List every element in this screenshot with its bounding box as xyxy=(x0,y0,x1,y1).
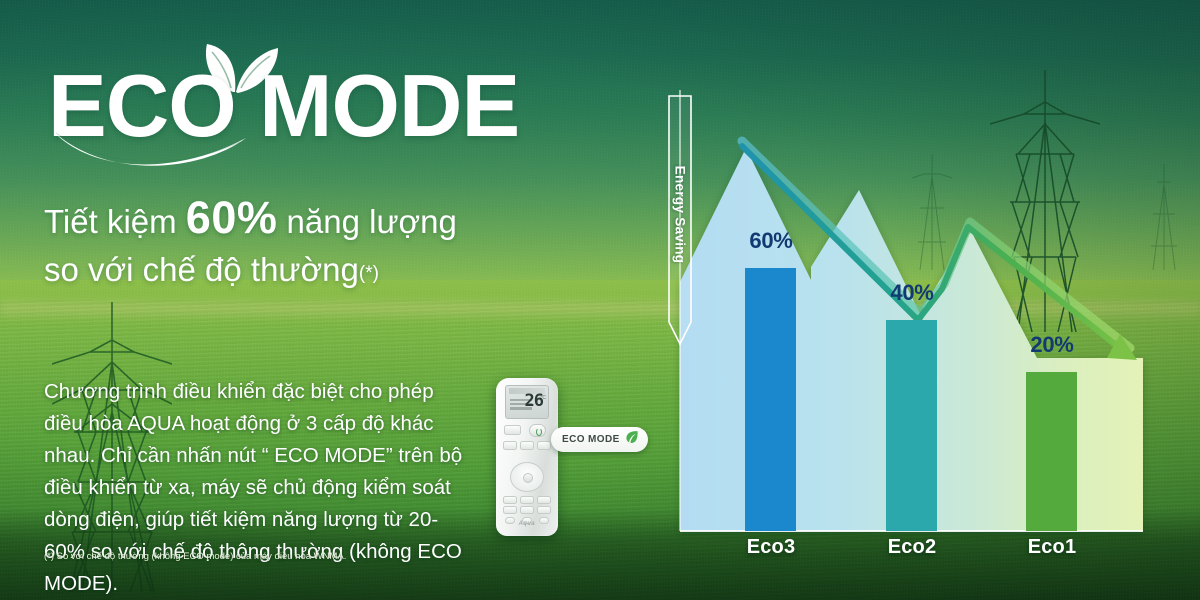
eco-mode-callout[interactable]: ECO MODE xyxy=(551,427,648,452)
remote-dpad-center[interactable] xyxy=(523,473,533,483)
remote-button[interactable] xyxy=(503,506,517,514)
subtitle-line-2: so với chế độ thường(*) xyxy=(44,248,604,292)
leaf-icon xyxy=(625,430,639,449)
subtitle-prefix: Tiết kiệm xyxy=(44,203,186,240)
remote-mode-button[interactable] xyxy=(504,425,521,435)
body-paragraph: Chương trình điều khiển đặc biệt cho phé… xyxy=(44,376,474,600)
subtitle-block: Tiết kiệm 60% năng lượng so với chế độ t… xyxy=(44,188,604,292)
remote-lcd-screen: 26 °C xyxy=(505,385,549,419)
remote-power-button[interactable] xyxy=(529,424,546,437)
category-label-eco1: Eco1 xyxy=(1008,536,1096,559)
remote-dpad[interactable] xyxy=(510,462,544,492)
eco-mode-logo: ECO MODE xyxy=(42,44,562,172)
subtitle-highlight: 60% xyxy=(186,192,278,243)
bar-eco3 xyxy=(745,268,796,531)
remote-brand-label: Aqua xyxy=(496,521,558,527)
bar-value-eco3: 60% xyxy=(728,228,814,254)
remote-button[interactable] xyxy=(537,496,551,504)
subtitle-suffix: năng lượng xyxy=(277,203,457,240)
bar-eco2 xyxy=(886,320,937,531)
subtitle-line-1: Tiết kiệm 60% năng lượng xyxy=(44,188,604,248)
lcd-temperature-unit: °C xyxy=(540,395,546,401)
remote-button[interactable] xyxy=(537,506,551,514)
remote-control[interactable]: 26 °C Aqua xyxy=(496,378,558,536)
category-label-eco3: Eco3 xyxy=(727,536,815,559)
y-axis-label: Energy Saving xyxy=(673,105,688,325)
chart-graphics xyxy=(650,86,1200,600)
subtitle-asterisk: (*) xyxy=(359,263,379,284)
eco-mode-callout-label: ECO MODE xyxy=(562,434,620,445)
bar-eco1 xyxy=(1026,372,1077,531)
remote-button[interactable] xyxy=(520,506,534,514)
remote-button[interactable] xyxy=(503,441,517,450)
remote-eco-mode-button[interactable] xyxy=(537,441,551,450)
footnote: (*) So với chế độ thường (không ECO mode… xyxy=(44,551,504,563)
energy-saving-axis-banner: Energy Saving xyxy=(667,94,693,346)
energy-saving-chart: Energy Saving 60% 40% 20% Eco3 Eco2 Eco1 xyxy=(650,86,1200,600)
leaf-swoosh-icon xyxy=(50,122,250,179)
category-label-eco2: Eco2 xyxy=(868,536,956,559)
subtitle-line2-text: so với chế độ thường xyxy=(44,251,359,288)
remote-button[interactable] xyxy=(503,496,517,504)
bar-value-eco2: 40% xyxy=(869,280,955,306)
remote-button[interactable] xyxy=(520,441,534,450)
remote-button[interactable] xyxy=(520,496,534,504)
bar-value-eco1: 20% xyxy=(1009,332,1095,358)
